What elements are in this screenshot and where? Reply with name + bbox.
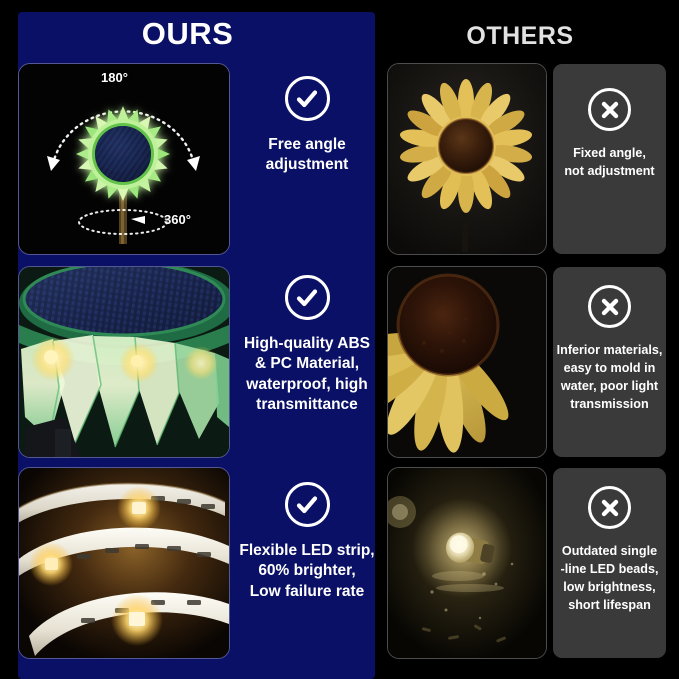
angle-label-360: 360° xyxy=(164,212,191,227)
x-circle-icon xyxy=(588,486,631,529)
comparison-row-angle: 180° 360° Free angle adjustment xyxy=(0,62,679,258)
check-circle-icon xyxy=(285,275,330,320)
x-circle-icon xyxy=(588,285,631,328)
image-sunflower-head-macro xyxy=(388,267,546,457)
ours-claim-led: Flexible LED strip, 60% brighter, Low fa… xyxy=(236,482,378,602)
image-translucent-petal-macro-with-solar-panel xyxy=(19,267,229,457)
ours-header: OURS xyxy=(0,16,375,52)
others-claim-text: Inferior materials, easy to mold in wate… xyxy=(557,342,663,414)
check-circle-icon xyxy=(285,76,330,121)
ours-claim-text: High-quality ABS & PC Material, waterpro… xyxy=(244,334,370,416)
others-claim-material: Inferior materials, easy to mold in wate… xyxy=(553,267,666,457)
ours-claim-text: Free angle adjustment xyxy=(266,135,349,176)
ours-claim-material: High-quality ABS & PC Material, waterpro… xyxy=(236,275,378,416)
x-circle-icon xyxy=(588,88,631,131)
comparison-infographic: OURS OTHERS xyxy=(0,0,679,679)
others-claim-led: Outdated single -line LED beads, low bri… xyxy=(553,468,666,658)
others-claim-text: Fixed angle, not adjustment xyxy=(564,145,654,181)
check-circle-icon xyxy=(285,482,330,527)
image-coiled-flexible-led-strip xyxy=(19,468,229,658)
ours-claim-angle: Free angle adjustment xyxy=(236,76,378,176)
comparison-row-led: Flexible LED strip, 60% brighter, Low fa… xyxy=(0,466,679,662)
others-claim-text: Outdated single -line LED beads, low bri… xyxy=(561,543,659,615)
others-claim-angle: Fixed angle, not adjustment xyxy=(553,64,666,254)
image-glowing-sunflower-angle-diagram: 180° 360° xyxy=(19,64,229,254)
ours-claim-text: Flexible LED strip, 60% brighter, Low fa… xyxy=(239,541,374,602)
image-single-led-bead-on-wet-ground xyxy=(388,468,546,658)
angle-label-180: 180° xyxy=(101,70,128,85)
comparison-row-material: High-quality ABS & PC Material, waterpro… xyxy=(0,265,679,461)
angle-diagram-svg xyxy=(19,64,229,254)
image-plain-sunflower-photo xyxy=(388,64,546,254)
others-header: OTHERS xyxy=(400,22,640,51)
